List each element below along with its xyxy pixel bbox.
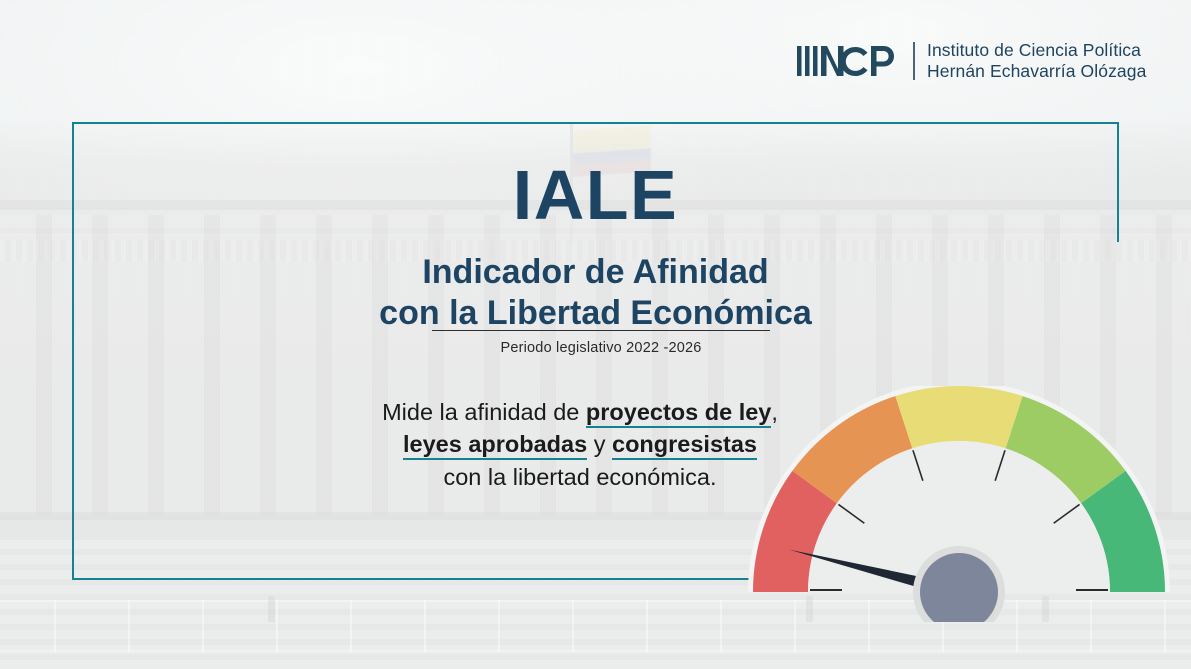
highlight-proyectos-de-ley: proyectos de ley — [586, 399, 771, 428]
frame-border-top — [72, 122, 1119, 124]
highlight-leyes-aprobadas: leyes aprobadas — [403, 431, 587, 460]
organization-name-line-1: Instituto de Ciencia Política — [927, 40, 1146, 61]
icp-logo[interactable]: Instituto de Ciencia Política Hernán Ech… — [797, 40, 1146, 82]
page-title: IALE — [0, 160, 1191, 230]
afinidad-gauge — [748, 386, 1170, 622]
description-line-1-prefix: Mide la afinidad de — [382, 399, 586, 425]
highlight-congresistas: congresistas — [612, 431, 757, 460]
page-subtitle-line-1: Indicador de Afinidad — [0, 252, 1191, 293]
frame-border-bottom — [72, 578, 752, 580]
legislative-period: Periodo legislativo 2022 -2026 — [432, 340, 770, 356]
organization-name-line-2: Hernán Echavarría Olózaga — [927, 61, 1146, 82]
period-block: Periodo legislativo 2022 -2026 — [432, 330, 770, 356]
page-subtitle: Indicador de Afinidad con la Libertad Ec… — [0, 252, 1191, 335]
page-subtitle-line-2: con la Libertad Económica — [0, 293, 1191, 334]
hero-titles: IALE Indicador de Afinidad con la Libert… — [0, 160, 1191, 335]
organization-name: Instituto de Ciencia Política Hernán Ech… — [927, 40, 1146, 82]
gauge-segment-media — [895, 386, 1022, 448]
period-divider — [432, 330, 770, 331]
gauge-svg — [748, 386, 1170, 622]
description-line-2-conjunction: y — [587, 431, 612, 457]
icp-monogram-icon — [797, 43, 901, 79]
poster-canvas: Instituto de Ciencia Política Hernán Ech… — [0, 0, 1191, 669]
logo-divider — [913, 42, 915, 80]
